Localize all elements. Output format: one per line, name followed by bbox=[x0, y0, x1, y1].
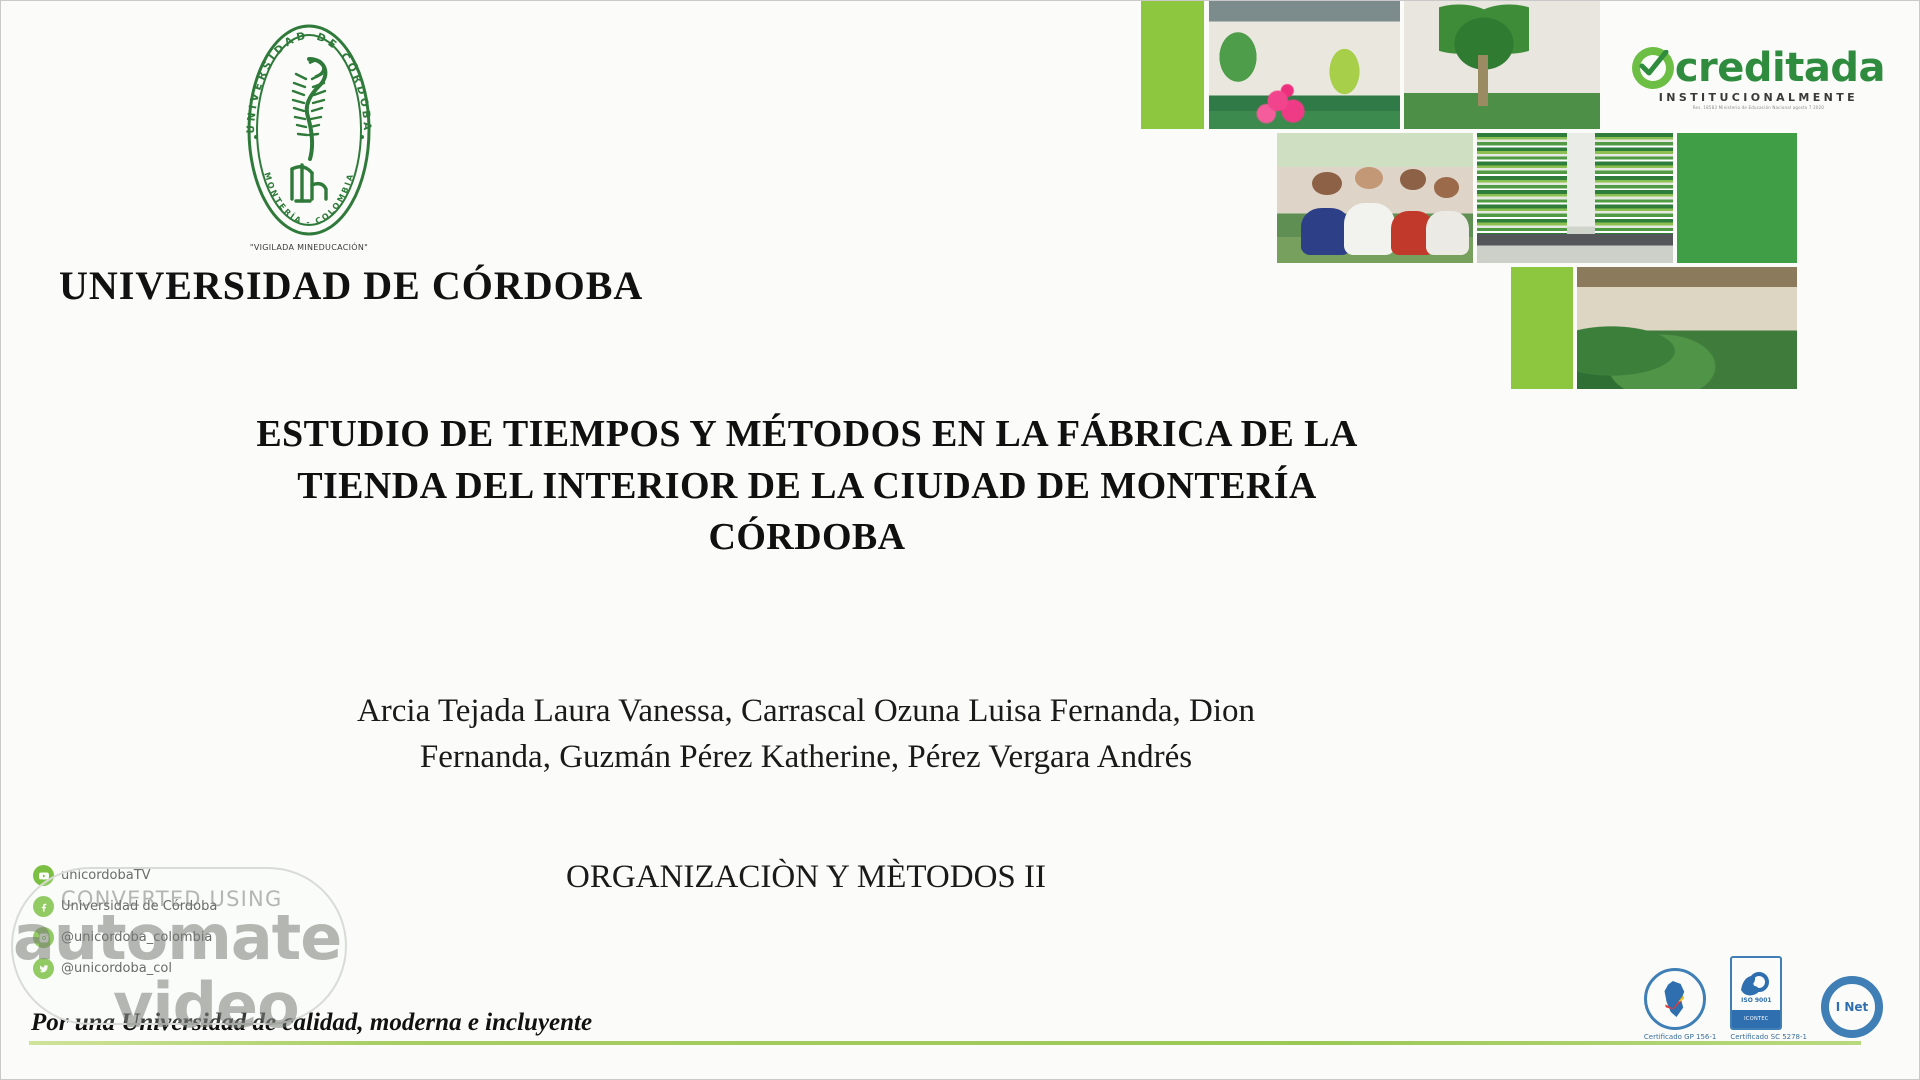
colombia-seal-badge: Certificado GP 156-1 bbox=[1644, 968, 1716, 1041]
social-row-youtube[interactable]: unicordobaTV bbox=[33, 863, 217, 888]
university-name: UNIVERSIDAD DE CÓRDOBA bbox=[59, 262, 559, 309]
acreditada-fine-print: Res. 18583 Ministerio de Educación Nacio… bbox=[1632, 105, 1885, 110]
youtube-icon bbox=[33, 865, 54, 886]
iqnet-label: I Net bbox=[1836, 1000, 1869, 1014]
collage-photo-entrance bbox=[1209, 1, 1400, 129]
course-name: ORGANIZACIÒN Y MÈTODOS II bbox=[141, 859, 1471, 896]
social-handle: unicordobaTV bbox=[61, 868, 151, 883]
authors-line-1: Arcia Tejada Laura Vanessa, Carrascal Oz… bbox=[141, 689, 1471, 735]
instagram-icon bbox=[33, 927, 54, 948]
social-handle: Universidad de Córdoba bbox=[61, 899, 217, 914]
social-handle: @unicordoba_colombia bbox=[61, 930, 212, 945]
collage-lime-block-1 bbox=[1141, 1, 1204, 129]
facebook-icon bbox=[33, 896, 54, 917]
social-row-instagram[interactable]: @unicordoba_colombia bbox=[33, 925, 217, 950]
university-seal-icon: UNIVERSIDAD DE CÓRDOBA MONTERÍA - COLOMB… bbox=[234, 19, 384, 241]
social-row-twitter[interactable]: @unicordoba_col bbox=[33, 956, 217, 981]
acreditada-check-icon bbox=[1632, 47, 1674, 89]
iso-label: ISO 9001 bbox=[1732, 997, 1780, 1004]
collage-green-block bbox=[1677, 133, 1797, 263]
cert-caption: Certificado SC 5278-1 bbox=[1730, 1033, 1807, 1041]
icontec-iso-9001-badge: ISO 9001 ICONTEC Certificado SC 5278-1 bbox=[1730, 956, 1807, 1041]
acreditada-logo: creditada INSTITUCIONALMENTE Res. 18583 … bbox=[1632, 47, 1885, 110]
authors-list: Arcia Tejada Laura Vanessa, Carrascal Oz… bbox=[141, 689, 1471, 780]
cert-caption: Certificado GP 156-1 bbox=[1644, 1033, 1716, 1041]
collage-photo-campus bbox=[1477, 133, 1673, 263]
social-row-facebook[interactable]: Universidad de Córdoba bbox=[33, 894, 217, 919]
seal-caption: "VIGILADA MINEDUCACIÓN" bbox=[59, 243, 559, 252]
collage-photo-palm-building bbox=[1404, 1, 1600, 129]
title-line-1: ESTUDIO DE TIEMPOS Y MÉTODOS EN LA FÁBRI… bbox=[97, 409, 1517, 461]
twitter-icon bbox=[33, 958, 54, 979]
collage-lime-block-2 bbox=[1511, 267, 1573, 389]
page-title: ESTUDIO DE TIEMPOS Y MÉTODOS EN LA FÁBRI… bbox=[97, 409, 1517, 564]
university-branding: UNIVERSIDAD DE CÓRDOBA MONTERÍA - COLOMB… bbox=[59, 19, 559, 309]
certification-badges: Certificado GP 156-1 ISO 9001 ICONTEC Ce… bbox=[1644, 956, 1883, 1041]
acreditada-wordmark: creditada bbox=[1675, 48, 1885, 88]
iqnet-badge: I Net bbox=[1821, 976, 1883, 1041]
title-line-2: TIENDA DEL INTERIOR DE LA CIUDAD DE MONT… bbox=[97, 461, 1517, 513]
university-tagline: Por una Universidad de calidad, moderna … bbox=[31, 1009, 592, 1037]
authors-line-2: Fernanda, Guzmán Pérez Katherine, Pérez … bbox=[141, 735, 1471, 781]
collage-photo-students bbox=[1277, 133, 1473, 263]
presentation-slide: creditada INSTITUCIONALMENTE Res. 18583 … bbox=[0, 0, 1920, 1080]
acreditada-subtitle: INSTITUCIONALMENTE bbox=[1632, 91, 1885, 104]
hand-circle-icon bbox=[1739, 968, 1773, 998]
footer-divider bbox=[29, 1041, 1861, 1045]
icontec-brand: ICONTEC bbox=[1744, 1016, 1768, 1022]
collage-photo-pergola bbox=[1577, 267, 1797, 389]
title-line-3: CÓRDOBA bbox=[97, 512, 1517, 564]
social-handle: @unicordoba_col bbox=[61, 961, 172, 976]
social-links: unicordobaTV Universidad de Córdoba @uni… bbox=[33, 863, 217, 987]
checkmark-icon bbox=[1639, 50, 1669, 80]
